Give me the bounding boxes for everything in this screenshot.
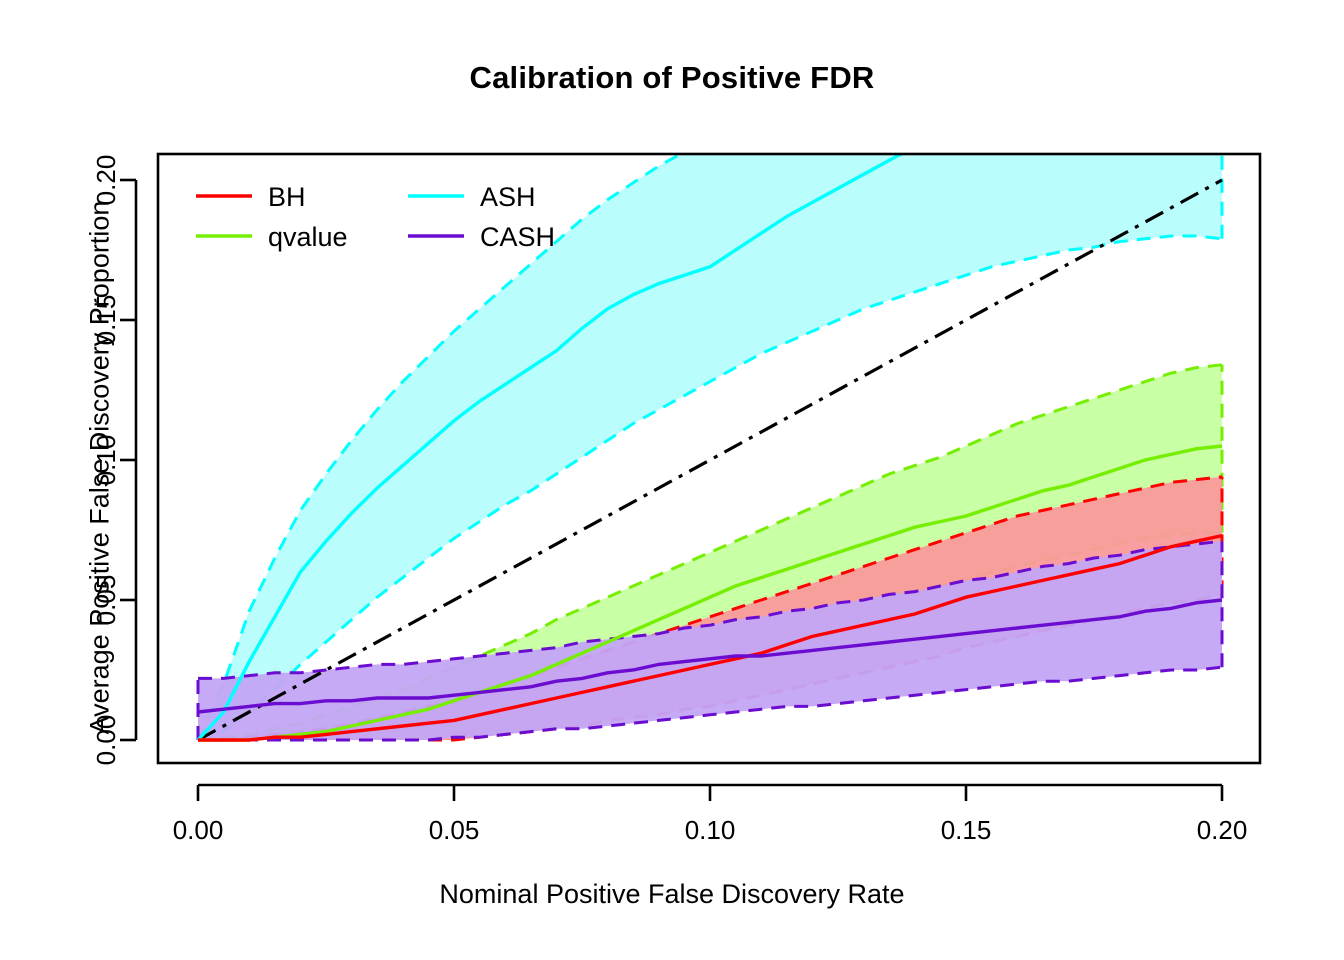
- x-tick-label: 0.15: [941, 815, 992, 845]
- legend-label-bh: BH: [268, 182, 306, 212]
- x-tick-label: 0.05: [429, 815, 480, 845]
- legend-label-ash: ASH: [480, 182, 536, 212]
- x-axis-label: Nominal Positive False Discovery Rate: [0, 879, 1344, 910]
- plot-canvas: 0.000.050.100.150.200.000.050.100.150.20…: [0, 0, 1344, 960]
- confidence-bands-layer: [198, 0, 1222, 740]
- chart-root: Calibration of Positive FDR 0.000.050.10…: [0, 0, 1344, 960]
- legend-label-qvalue: qvalue: [268, 222, 348, 252]
- x-tick-label: 0.20: [1197, 815, 1248, 845]
- legend-label-cash: CASH: [480, 222, 555, 252]
- x-tick-label: 0.10: [685, 815, 736, 845]
- chart-legend: BHqvalueASHCASH: [196, 182, 555, 252]
- y-axis-label: Average Positive False Discovery Proport…: [85, 68, 116, 868]
- x-tick-label: 0.00: [173, 815, 224, 845]
